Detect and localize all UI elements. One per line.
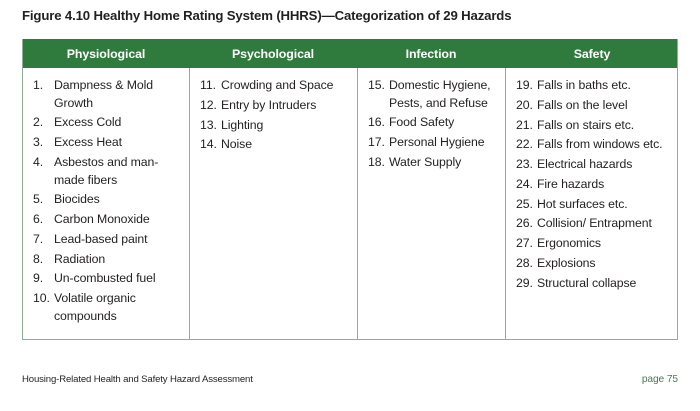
list-item: 15. Domestic Hygiene, Pests, and Refuse [368, 77, 497, 112]
list-item-label: Crowding and Space [221, 77, 349, 95]
list-item-number: 23. [516, 156, 537, 174]
column-header-psychological: Psychological [189, 39, 357, 68]
list-item-label: Radiation [54, 251, 181, 269]
hazard-list-physiological: 1. Dampness & Mold Growth 2. Excess Cold… [33, 77, 181, 325]
list-item-label: Dampness & Mold Growth [54, 77, 181, 112]
page-title: Figure 4.10 Healthy Home Rating System (… [22, 8, 682, 23]
list-item: 4. Asbestos and man-made fibers [33, 154, 181, 189]
list-item: 11. Crowding and Space [200, 77, 349, 95]
list-item-label: Collision/ Entrapment [537, 215, 671, 233]
list-item: 19. Falls in baths etc. [516, 77, 671, 95]
list-item: 29. Structural collapse [516, 275, 671, 293]
list-item-number: 6. [33, 211, 54, 229]
list-item-label: Explosions [537, 255, 671, 273]
list-item-number: 8. [33, 251, 54, 269]
list-item: 22. Falls from windows etc. [516, 136, 671, 154]
list-item: 20. Falls on the level [516, 97, 671, 115]
table-body: 1. Dampness & Mold Growth 2. Excess Cold… [23, 68, 677, 339]
hazard-list-psychological: 11. Crowding and Space 12. Entry by Intr… [200, 77, 349, 154]
list-item-label: Falls on the level [537, 97, 671, 115]
list-item-number: 13. [200, 117, 221, 135]
list-item-number: 26. [516, 215, 537, 233]
list-item-number: 15. [368, 77, 389, 112]
list-item-label: Falls on stairs etc. [537, 117, 671, 135]
list-item-label: Volatile organic compounds [54, 290, 181, 325]
list-item: 10. Volatile organic compounds [33, 290, 181, 325]
list-item-label: Water Supply [389, 154, 497, 172]
list-item-number: 22. [516, 136, 537, 154]
list-item-number: 20. [516, 97, 537, 115]
list-item-label: Ergonomics [537, 235, 671, 253]
list-item: 26. Collision/ Entrapment [516, 215, 671, 233]
list-item-label: Domestic Hygiene, Pests, and Refuse [389, 77, 497, 112]
list-item-label: Excess Heat [54, 134, 181, 152]
list-item-number: 11. [200, 77, 221, 95]
list-item: 24. Fire hazards [516, 176, 671, 194]
list-item-number: 19. [516, 77, 537, 95]
list-item-label: Entry by Intruders [221, 97, 349, 115]
list-item: 2. Excess Cold [33, 114, 181, 132]
list-item-number: 16. [368, 114, 389, 132]
list-item-number: 12. [200, 97, 221, 115]
list-item-label: Noise [221, 136, 349, 154]
list-item: 3. Excess Heat [33, 134, 181, 152]
hazard-list-infection: 15. Domestic Hygiene, Pests, and Refuse … [368, 77, 497, 172]
column-header-infection: Infection [357, 39, 505, 68]
column-header-safety: Safety [505, 39, 679, 68]
list-item-label: Falls from windows etc. [537, 136, 671, 154]
hazard-list-safety: 19. Falls in baths etc. 20. Falls on the… [516, 77, 671, 292]
list-item-number: 25. [516, 196, 537, 214]
column-header-physiological: Physiological [23, 39, 189, 68]
list-item-number: 10. [33, 290, 54, 325]
table-cell-infection: 15. Domestic Hygiene, Pests, and Refuse … [357, 68, 505, 339]
footer-page-number: page 75 [642, 374, 678, 385]
list-item-number: 18. [368, 154, 389, 172]
page-footer: Housing-Related Health and Safety Hazard… [22, 374, 678, 385]
list-item-number: 7. [33, 231, 54, 249]
list-item: 28. Explosions [516, 255, 671, 273]
list-item: 5. Biocides [33, 191, 181, 209]
list-item-number: 9. [33, 270, 54, 288]
list-item: 7. Lead-based paint [33, 231, 181, 249]
list-item: 16. Food Safety [368, 114, 497, 132]
list-item: 1. Dampness & Mold Growth [33, 77, 181, 112]
list-item-label: Structural collapse [537, 275, 671, 293]
list-item-label: Un-combusted fuel [54, 270, 181, 288]
table-cell-psychological: 11. Crowding and Space 12. Entry by Intr… [189, 68, 357, 339]
list-item-label: Food Safety [389, 114, 497, 132]
list-item-label: Carbon Monoxide [54, 211, 181, 229]
list-item-label: Biocides [54, 191, 181, 209]
list-item: 18. Water Supply [368, 154, 497, 172]
list-item: 12. Entry by Intruders [200, 97, 349, 115]
list-item-label: Falls in baths etc. [537, 77, 671, 95]
list-item-number: 28. [516, 255, 537, 273]
list-item: 14. Noise [200, 136, 349, 154]
list-item-label: Lead-based paint [54, 231, 181, 249]
list-item: 23. Electrical hazards [516, 156, 671, 174]
list-item: 21. Falls on stairs etc. [516, 117, 671, 135]
list-item-label: Electrical hazards [537, 156, 671, 174]
list-item-number: 14. [200, 136, 221, 154]
list-item: 17. Personal Hygiene [368, 134, 497, 152]
list-item-label: Personal Hygiene [389, 134, 497, 152]
list-item-number: 24. [516, 176, 537, 194]
table-header-row: Physiological Psychological Infection Sa… [23, 39, 677, 68]
list-item: 6. Carbon Monoxide [33, 211, 181, 229]
list-item-label: Lighting [221, 117, 349, 135]
hazard-categorization-table: Physiological Psychological Infection Sa… [22, 39, 678, 340]
list-item: 8. Radiation [33, 251, 181, 269]
list-item-number: 5. [33, 191, 54, 209]
footer-document-title: Housing-Related Health and Safety Hazard… [22, 374, 253, 385]
list-item-label: Hot surfaces etc. [537, 196, 671, 214]
list-item-number: 29. [516, 275, 537, 293]
list-item-number: 1. [33, 77, 54, 112]
list-item-number: 27. [516, 235, 537, 253]
list-item-label: Fire hazards [537, 176, 671, 194]
list-item-number: 2. [33, 114, 54, 132]
list-item: 13. Lighting [200, 117, 349, 135]
list-item-number: 21. [516, 117, 537, 135]
list-item-label: Excess Cold [54, 114, 181, 132]
figure-page: Figure 4.10 Healthy Home Rating System (… [0, 0, 700, 411]
list-item: 25. Hot surfaces etc. [516, 196, 671, 214]
list-item-number: 3. [33, 134, 54, 152]
list-item: 27. Ergonomics [516, 235, 671, 253]
list-item-label: Asbestos and man-made fibers [54, 154, 181, 189]
list-item-number: 4. [33, 154, 54, 189]
table-cell-physiological: 1. Dampness & Mold Growth 2. Excess Cold… [23, 68, 189, 339]
list-item: 9. Un-combusted fuel [33, 270, 181, 288]
list-item-number: 17. [368, 134, 389, 152]
table-cell-safety: 19. Falls in baths etc. 20. Falls on the… [505, 68, 679, 339]
